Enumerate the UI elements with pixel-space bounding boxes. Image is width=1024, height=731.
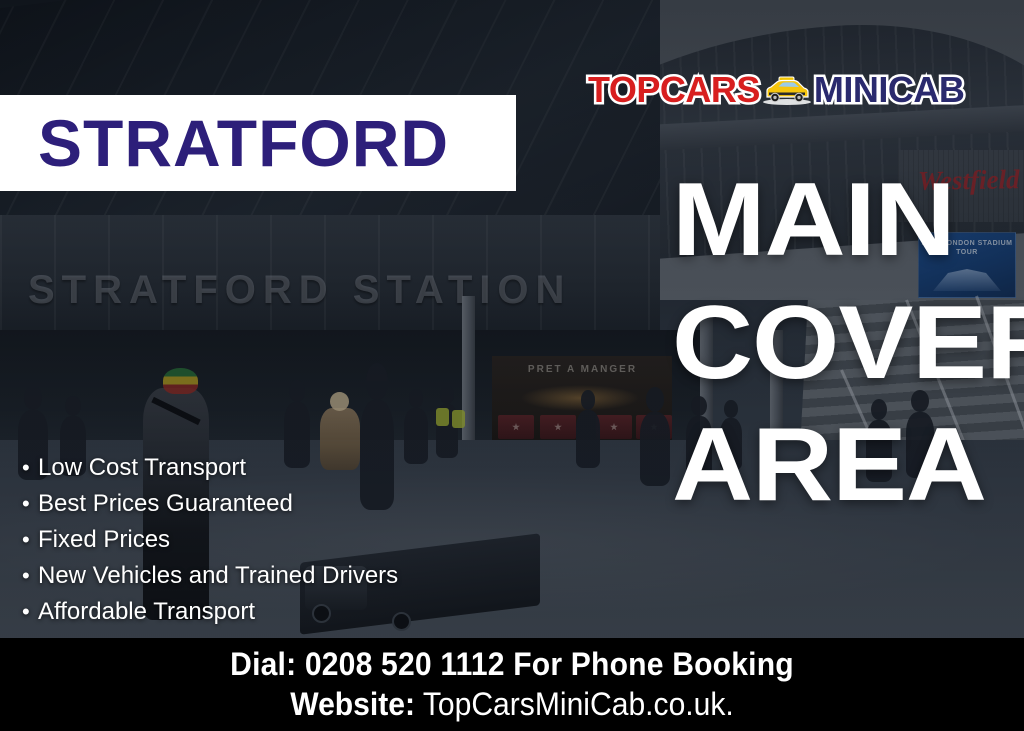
city-title-plate: STRATFORD [0, 95, 516, 191]
list-item: •Affordable Transport [22, 594, 398, 630]
list-item-label: Best Prices Guaranteed [38, 490, 293, 517]
phone-booking-line[interactable]: Dial: 0208 520 1112 For Phone Booking [31, 644, 994, 684]
list-item-label: New Vehicles and Trained Drivers [38, 562, 398, 589]
contact-footer-bar: Dial: 0208 520 1112 For Phone Booking We… [0, 638, 1024, 731]
website-line[interactable]: Website: TopCarsMiniCab.co.uk. [31, 684, 994, 724]
taxi-car-icon [761, 75, 813, 105]
brand-logo[interactable]: TOPCARS MINICAB [588, 70, 964, 110]
bullet-icon: • [22, 522, 38, 558]
bullet-icon: • [22, 594, 38, 630]
list-item: •Low Cost Transport [22, 450, 398, 486]
headline-line-1: MAIN [672, 172, 996, 269]
headline-line-3: AREA [672, 417, 996, 514]
list-item-label: Low Cost Transport [38, 454, 246, 481]
list-item-label: Affordable Transport [38, 598, 255, 625]
list-item: •Best Prices Guaranteed [22, 486, 398, 522]
advert-banner: Westfield NEW LONDON STADIUM TOUR STRATF… [0, 0, 1024, 731]
headline-line-2: COVER [672, 295, 996, 392]
list-item-label: Fixed Prices [38, 526, 170, 553]
list-item: •Fixed Prices [22, 522, 398, 558]
bullet-icon: • [22, 558, 38, 594]
list-item: •New Vehicles and Trained Drivers [22, 558, 398, 594]
website-label: Website: [290, 686, 415, 722]
page-title: STRATFORD [38, 110, 449, 176]
logo-text-topcars: TOPCARS [588, 72, 760, 108]
feature-list: •Low Cost Transport •Best Prices Guarant… [22, 450, 398, 630]
bullet-icon: • [22, 450, 38, 486]
bullet-icon: • [22, 486, 38, 522]
headline-block: MAIN COVER AREA [672, 172, 972, 514]
website-url[interactable]: TopCarsMiniCab.co.uk. [423, 686, 734, 722]
logo-text-minicab: MINICAB [814, 72, 964, 108]
